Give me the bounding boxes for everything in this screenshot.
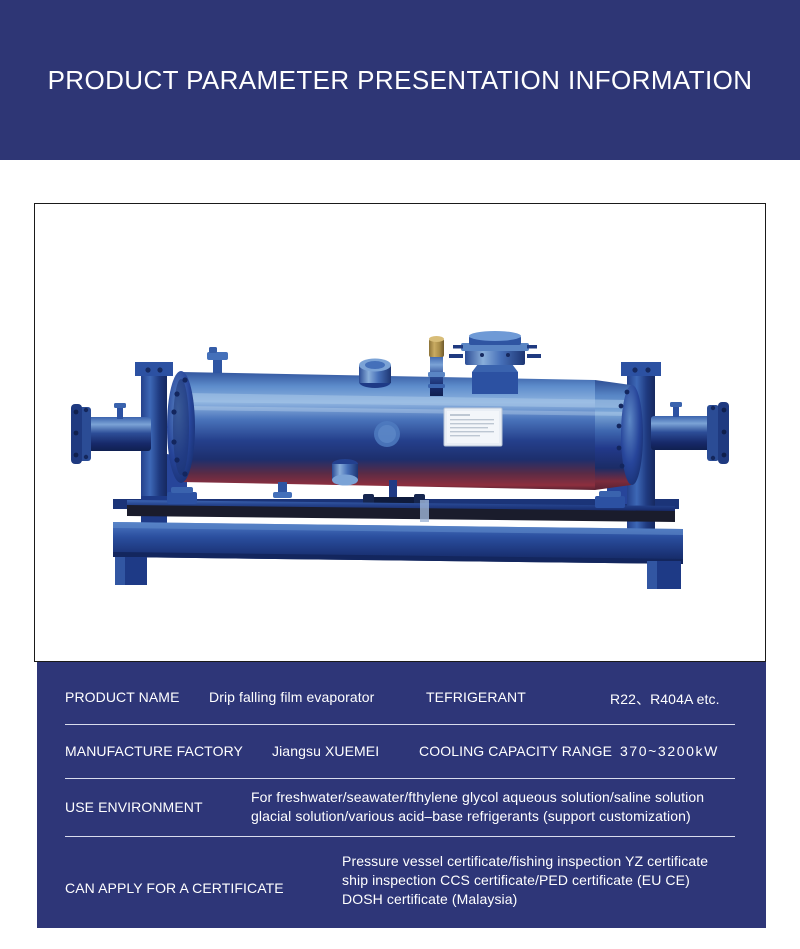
row-divider: [65, 724, 735, 725]
product-photo: [35, 204, 765, 661]
spec-label-cooling-capacity-range: COOLING CAPACITY RANGE: [419, 743, 612, 759]
bottom-cap-fitting: [332, 459, 358, 486]
row-divider: [65, 778, 735, 779]
evaporator-illustration: [35, 204, 765, 661]
spec-value-certificate: Pressure vessel certificate/fishing insp…: [342, 852, 708, 909]
spec-value-product-name: Drip falling film evaporator: [209, 689, 374, 705]
specification-table: PRODUCT NAME Drip falling film evaporato…: [37, 662, 766, 928]
use-environment-line-2: glacial solution/various acid–base refri…: [251, 807, 704, 826]
spec-label-certificate: CAN APPLY FOR A CERTIFICATE: [65, 880, 284, 896]
spec-label-use-environment: USE ENVIRONMENT: [65, 799, 203, 815]
spec-label-product-name: PRODUCT NAME: [65, 689, 180, 705]
row-divider: [65, 836, 735, 837]
spec-value-manufacture-factory: Jiangsu XUEMEI: [272, 743, 379, 759]
page-title: PRODUCT PARAMETER PRESENTATION INFORMATI…: [0, 0, 800, 160]
spec-value-refrigerant: R22、R404A etc.: [610, 689, 720, 709]
use-environment-line-1: For freshwater/seawater/fthylene glycol …: [251, 788, 704, 807]
header-band: PRODUCT PARAMETER PRESENTATION INFORMATI…: [0, 0, 800, 160]
brass-capped-standpipe: [428, 336, 445, 396]
spec-value-use-environment: For freshwater/seawater/fthylene glycol …: [251, 788, 704, 826]
top-small-nozzle-left: [207, 347, 228, 373]
spec-label-refrigerant: TEFRIGERANT: [426, 689, 526, 705]
vessel-shell: [167, 371, 643, 490]
product-image-panel: [34, 203, 766, 662]
right-nozzle-flange: [651, 402, 729, 464]
top-cap-fitting-mid: [359, 359, 391, 389]
spec-value-cooling-capacity-range: 370~3200kW: [620, 743, 719, 759]
bottom-small-nozzle: [273, 482, 292, 498]
product-parameter-page: PRODUCT PARAMETER PRESENTATION INFORMATI…: [0, 0, 800, 949]
certificate-line-2: ship inspection CCS certificate/PED cert…: [342, 871, 708, 890]
certificate-line-3: DOSH certificate (Malaysia): [342, 890, 708, 909]
shell-side-cover: [374, 421, 400, 447]
spec-label-manufacture-factory: MANUFACTURE FACTORY: [65, 743, 243, 759]
left-nozzle-flange: [71, 403, 151, 464]
certificate-line-1: Pressure vessel certificate/fishing insp…: [342, 852, 708, 871]
product-nameplate: [444, 408, 502, 446]
